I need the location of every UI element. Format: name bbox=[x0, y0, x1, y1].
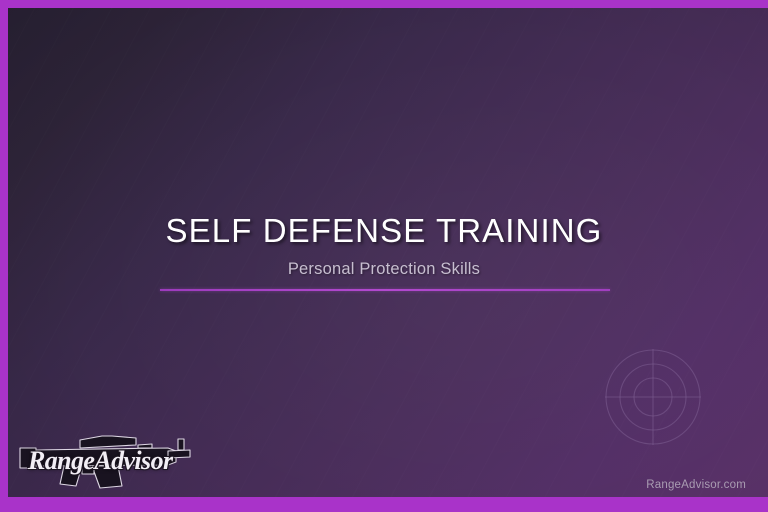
watermark: RangeAdvisor.com bbox=[646, 479, 746, 491]
brand-logo: RangeAdvisor bbox=[18, 424, 198, 490]
logo-wordmark: RangeAdvisor bbox=[18, 446, 198, 476]
frame-border-top bbox=[0, 0, 768, 8]
slide-title: SELF DEFENSE TRAINING bbox=[0, 214, 768, 249]
slide-subtitle: Personal Protection Skills bbox=[0, 260, 768, 279]
title-block: SELF DEFENSE TRAINING Personal Protectio… bbox=[0, 214, 768, 279]
crosshair-target-icon bbox=[605, 349, 701, 445]
frame-border-bottom bbox=[0, 497, 768, 512]
presentation-slide: SELF DEFENSE TRAINING Personal Protectio… bbox=[0, 0, 768, 512]
title-divider bbox=[160, 289, 610, 291]
